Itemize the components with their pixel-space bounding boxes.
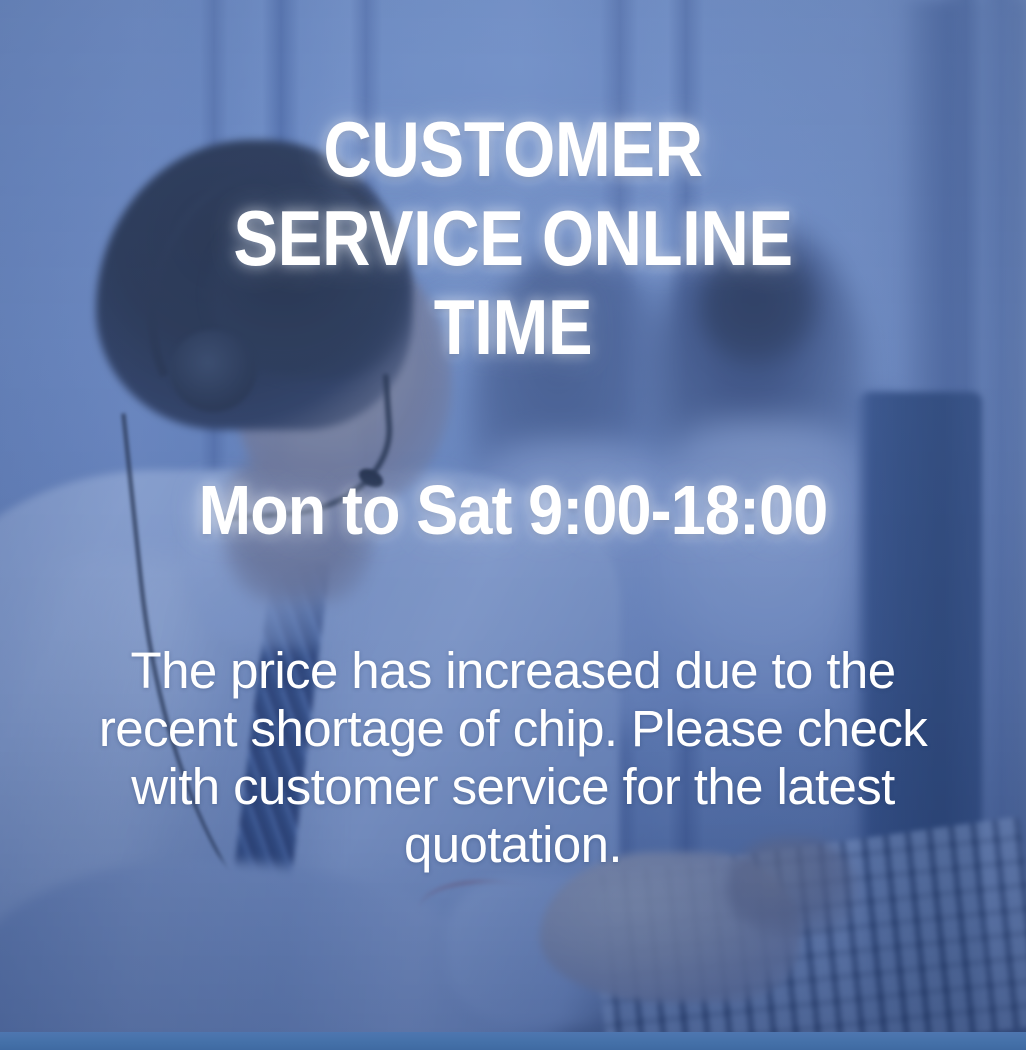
headline-line-3: TIME <box>72 288 954 366</box>
banner-text-stack: CUSTOMER SERVICE ONLINE TIME Mon to Sat … <box>0 0 1026 1050</box>
headline-line-1: CUSTOMER <box>72 110 954 188</box>
bottom-accent-bar <box>0 1032 1026 1050</box>
service-hours-subheadline: Mon to Sat 9:00-18:00 <box>51 475 974 545</box>
headline-line-2: SERVICE ONLINE <box>72 199 954 277</box>
customer-service-banner: CUSTOMER SERVICE ONLINE TIME Mon to Sat … <box>0 0 1026 1050</box>
price-notice-body-text: The price has increased due to the recen… <box>55 642 971 874</box>
